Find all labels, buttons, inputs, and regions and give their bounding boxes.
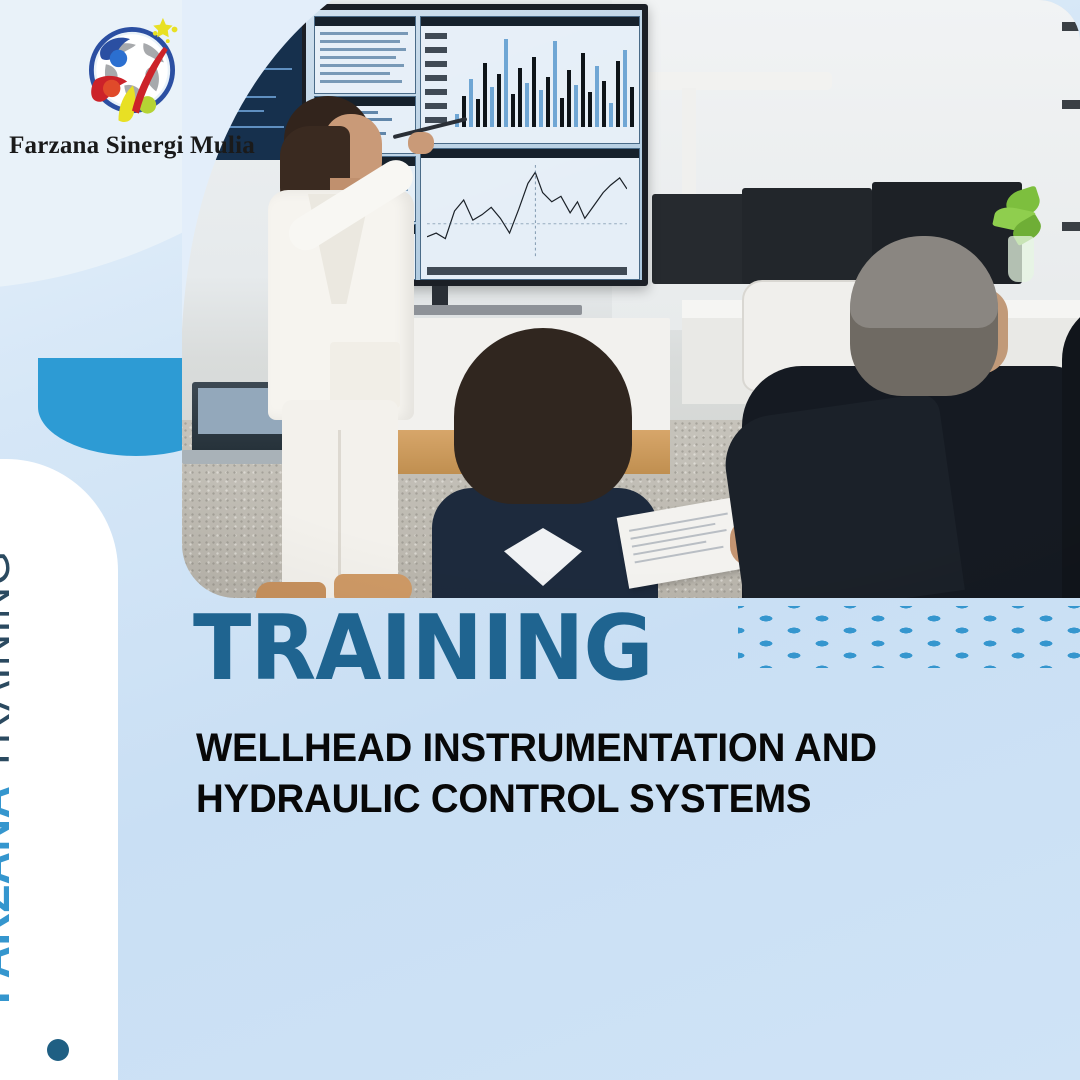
wall-shelf [1062,22,1080,31]
brand-name: Farzana Sinergi Mulia [9,132,255,160]
bullet-dot-icon [47,1039,69,1061]
sidebar-label-brand: FARZANA [0,786,19,1004]
globe-people-logo-icon [74,14,190,130]
poster-canvas: Farzana Sinergi Mulia TRAINING WELLHEAD … [0,0,1080,1080]
brand-logo-block: Farzana Sinergi Mulia [12,14,252,174]
audience-person-mid [792,236,1072,598]
page-title: TRAINING [193,604,653,694]
hero-photo [182,0,1080,598]
audience-person-right [1062,180,1080,598]
dot-grid-pattern-icon [738,606,1080,668]
sidebar-vertical-label: FARZANA TRAINING [0,550,16,1004]
audience-person-front [432,328,652,598]
page-subtitle: WELLHEAD INSTRUMENTATION AND HYDRAULIC C… [196,723,964,825]
wall-shelf [1062,100,1080,109]
sidebar-label-training: TRAINING [0,550,19,786]
lamp-stem [682,88,696,198]
